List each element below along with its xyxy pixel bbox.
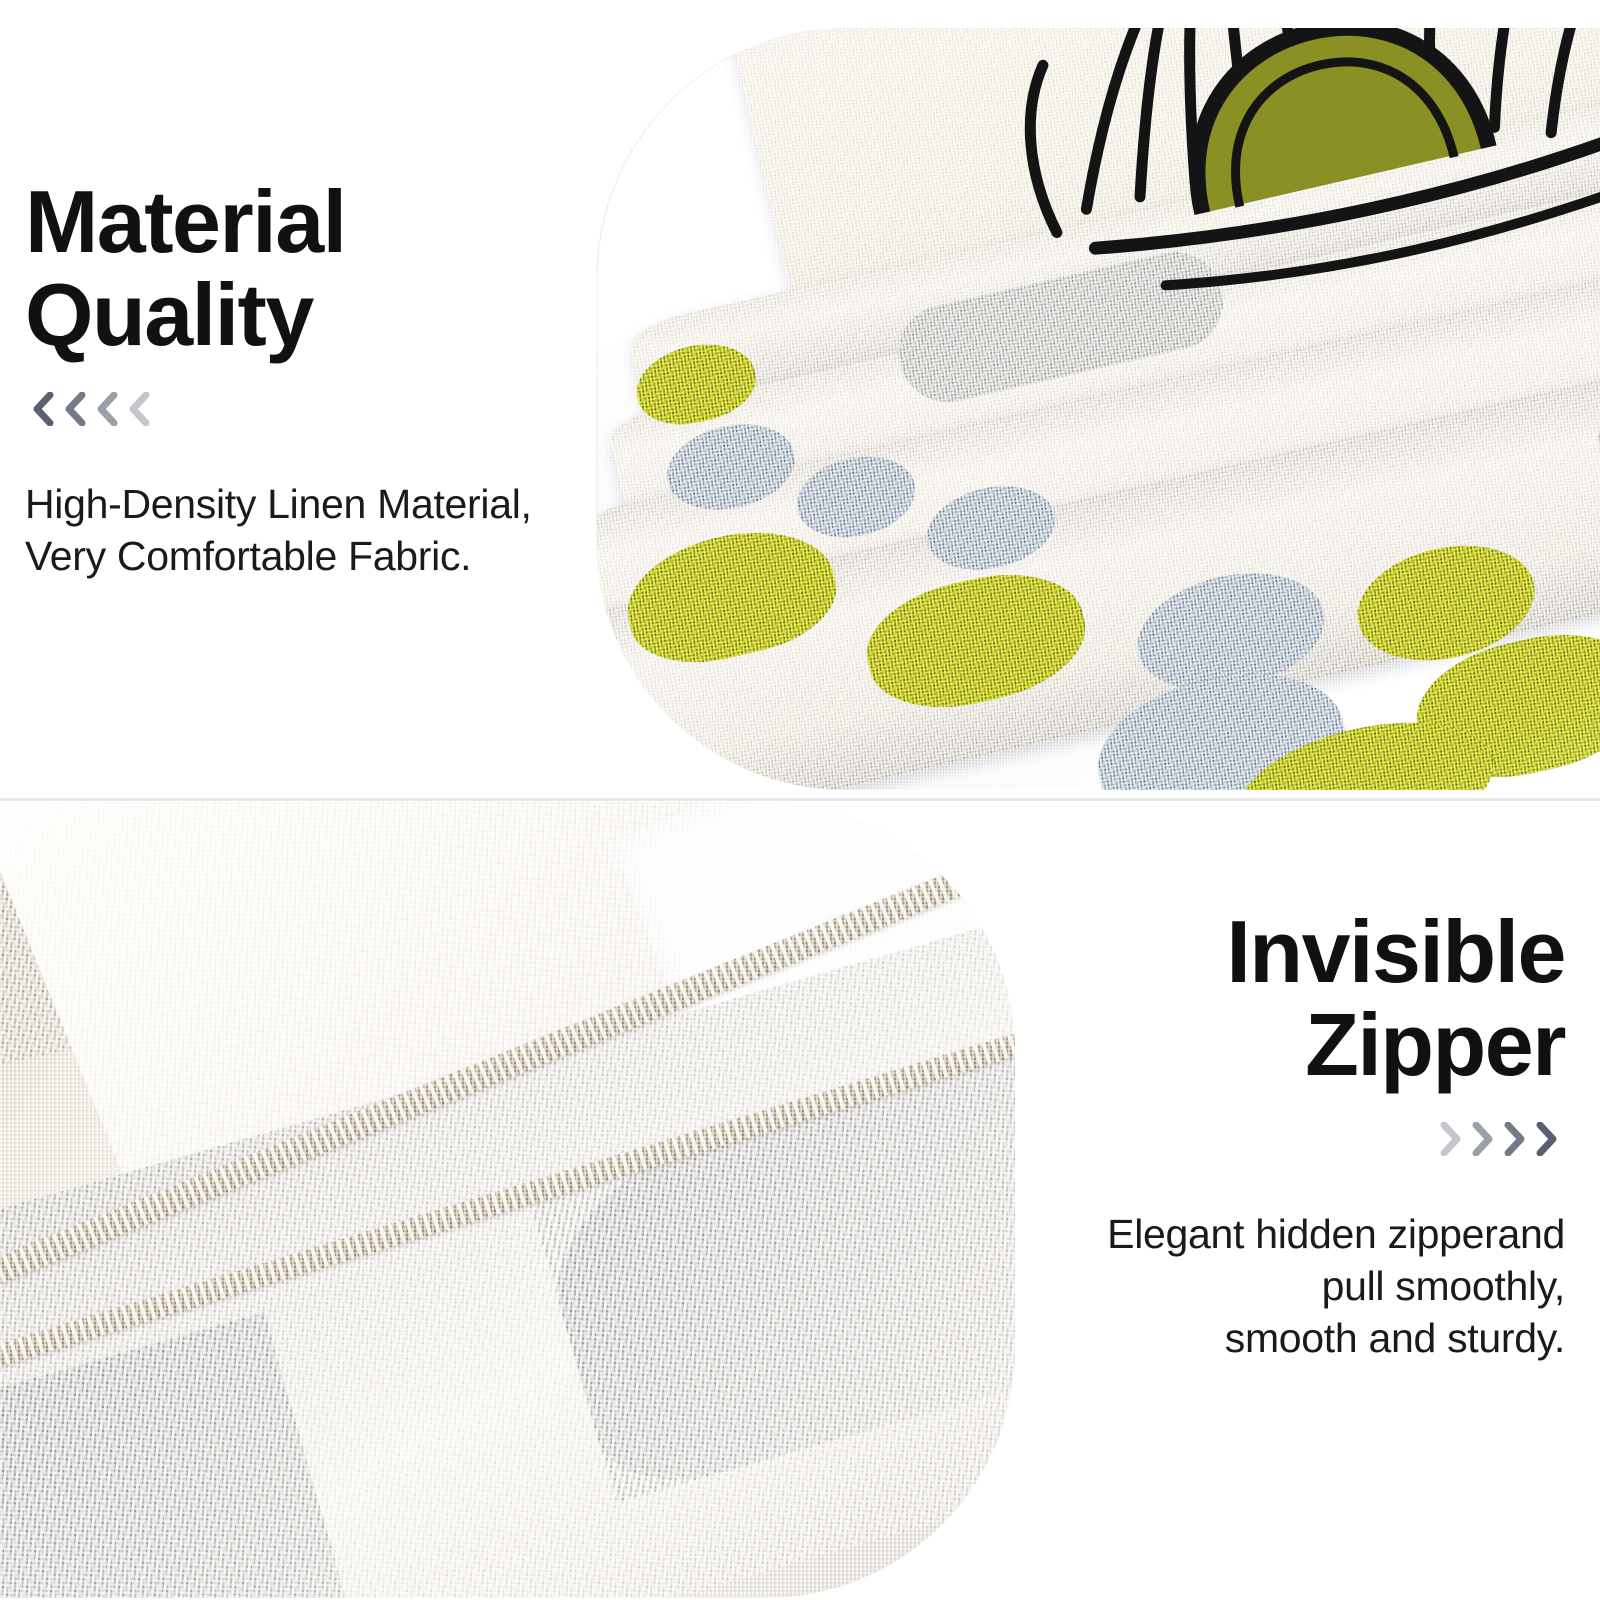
fabric-stack-photo [596, 28, 1600, 790]
chevron-left-icon [94, 392, 120, 426]
headline-line-1: Invisible [945, 905, 1565, 998]
description-line-1: Elegant hidden zipperand [945, 1208, 1565, 1260]
headline-line-2: Quality [25, 268, 615, 361]
material-quality-text-block: Material Quality High-Density Linen Mate… [25, 175, 615, 582]
description-line-1: High-Density Linen Material, [25, 478, 615, 530]
chevron-right-icon [1502, 1122, 1528, 1156]
panel-material-quality: Material Quality High-Density Linen Mate… [0, 0, 1600, 800]
invisible-zipper-headline: Invisible Zipper [945, 905, 1565, 1092]
description-line-3: smooth and sturdy. [945, 1312, 1565, 1364]
description-line-2: pull smoothly, [945, 1260, 1565, 1312]
chevron-left-group [30, 392, 615, 426]
zipper-closeup-photo [0, 802, 1015, 1598]
invisible-zipper-description: Elegant hidden zipperand pull smoothly, … [945, 1208, 1565, 1365]
headline-line-2: Zipper [945, 998, 1565, 1091]
chevron-right-icon [1470, 1122, 1496, 1156]
description-line-2: Very Comfortable Fabric. [25, 530, 615, 582]
invisible-zipper-text-block: Invisible Zipper Elegant hidden zipperan… [945, 905, 1565, 1365]
chevron-right-icon [1438, 1122, 1464, 1156]
chevron-left-icon [126, 392, 152, 426]
chevron-right-group [945, 1122, 1560, 1156]
material-quality-description: High-Density Linen Material, Very Comfor… [25, 478, 615, 583]
chevron-left-icon [30, 392, 56, 426]
headline-line-1: Material [25, 175, 615, 268]
chevron-right-icon [1534, 1122, 1560, 1156]
material-quality-headline: Material Quality [25, 175, 615, 362]
chevron-left-icon [62, 392, 88, 426]
panel-divider [0, 798, 1600, 801]
